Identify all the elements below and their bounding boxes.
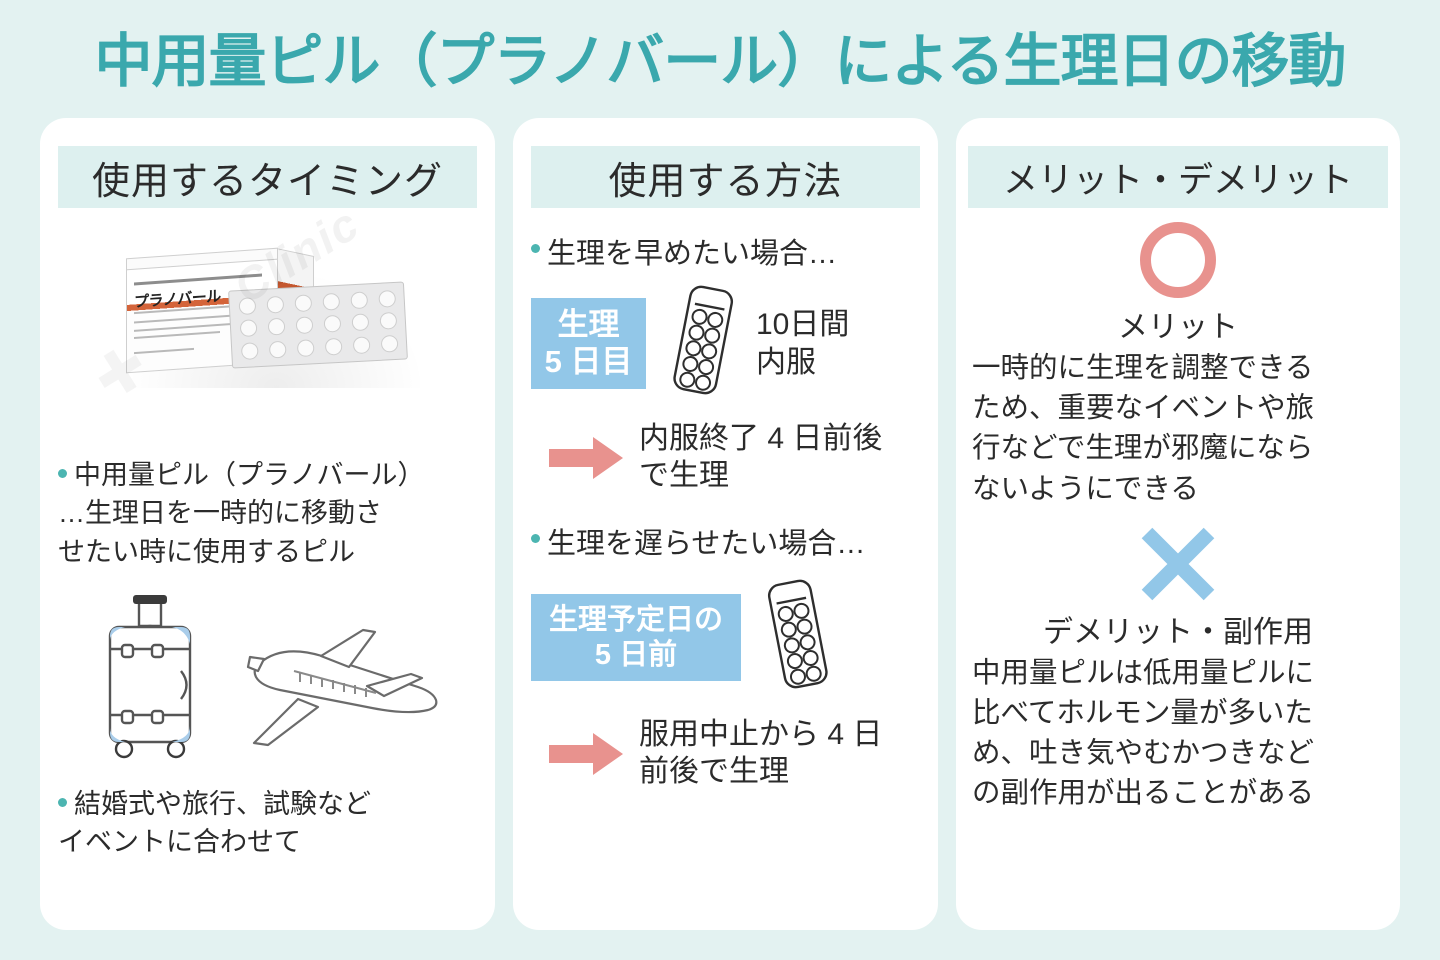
right-arrow-icon [547,435,625,481]
card-timing: 使用するタイミング プラノバール Clinic ✚ [40,118,495,930]
card-pros-cons: メリット・デメリット メリット 一時的に生理を調整できる ため、重要なイベントや… [956,118,1400,930]
timing-bullet-1-line-2: …生理日を一時的に移動さ [58,498,382,528]
duration-line-1: 10日間 [756,306,849,344]
method-delay-result-row: 服用中止から 4 日 前後で生理 [513,717,938,790]
timing-bullet-1-line-3: せたい時に使用するピル [58,537,355,567]
timing-bullet-2-line-2: イベントに合わせて [58,827,301,857]
result-line-1: 服用中止から 4 日 [639,717,882,754]
page-title: 中用量ピル（プラノバール）による生理日の移動 [0,14,1440,98]
merit-line-1: 一時的に生理を調整できる [972,348,1386,388]
travel-illustrations [68,583,468,773]
method-early-bullet-label: 生理を早めたい場合… [547,230,837,272]
card-method-header: 使用する方法 [531,146,920,208]
pill-blister-icon-delay [759,576,837,699]
badge-cycle-day-5: 生理 5 日目 [531,298,646,389]
card-pros-cons-header: メリット・デメリット [968,146,1388,208]
method-delay-row: 生理予定日の 5 日前 [513,576,938,699]
result-line-2: で生理 [639,458,882,495]
cross-batsu-icon [1139,525,1217,603]
card-timing-header: 使用するタイミング [58,146,477,208]
method-delay-bullet-label: 生理を遅らせたい場合… [547,520,865,562]
merit-icon-wrap [956,222,1400,298]
card-method: 使用する方法 生理を早めたい場合… 生理 5 日目 [513,118,938,930]
badge-line-1: 生理 [543,307,634,344]
method-early-result-row: 内服終了 4 日前後 で生理 [513,421,938,494]
method-early-row: 生理 5 日目 [513,282,938,405]
timing-bullet-2: 結婚式や旅行、試験など イベントに合わせて [58,785,479,862]
demerit-line-4: の副作用が出ることがある [972,773,1386,813]
method-delay-bullet: 生理を遅らせたい場合… [531,520,938,562]
method-delay-result-text: 服用中止から 4 日 前後で生理 [639,717,882,790]
badge-5-days-before: 生理予定日の 5 日前 [531,594,741,680]
demerit-line-3: め、吐き気やむかつきなど [972,733,1386,773]
merit-label: メリット [956,302,1400,346]
timing-bullet-1-line-1: 中用量ピル（プラノバール） [74,460,424,490]
timing-bullet-1: 中用量ピル（プラノバール） …生理日を一時的に移動さ せたい時に使用するピル [58,456,479,571]
suitcase-icon [110,595,190,757]
pill-blister-icon-early [664,282,742,405]
infographic-page: 中用量ピル（プラノバール）による生理日の移動 使用するタイミング プラノバール [0,0,1440,960]
bullet-dot-icon [58,469,67,478]
airplane-icon [248,630,436,745]
duration-line-2: 内服 [756,344,849,382]
bullet-dot-icon [531,534,540,543]
timing-bullet-2-line-1: 結婚式や旅行、試験など [74,789,371,819]
bullet-dot-icon [58,798,67,807]
demerit-paragraph: 中用量ピルは低用量ピルに 比べてホルモン量が多いた め、吐き気やむかつきなど の… [972,653,1386,814]
merit-line-4: ないようにできる [972,469,1386,509]
right-arrow-icon [547,731,625,777]
suitcase-and-airplane-svg [68,583,468,773]
method-early-result-text: 内服終了 4 日前後 で生理 [639,421,882,494]
cards-container: 使用するタイミング プラノバール Clinic ✚ [40,118,1400,930]
demerit-icon-wrap [956,525,1400,603]
method-early-bullet: 生理を早めたい場合… [531,230,938,272]
demerit-label: デメリット・副作用 [956,607,1400,651]
badge-line-2: 5 日前 [543,638,729,672]
merit-line-2: ため、重要なイベントや旅 [972,388,1386,428]
merit-paragraph: 一時的に生理を調整できる ため、重要なイベントや旅 行などで生理が邪魔になら な… [972,348,1386,509]
circle-maru-icon [1140,222,1216,298]
demerit-line-2: 比べてホルモン量が多いた [972,693,1386,733]
badge-line-1: 生理予定日の [543,603,729,637]
blister-pack-photo [228,281,408,368]
method-early-duration: 10日間 内服 [756,306,849,381]
merit-line-3: 行などで生理が邪魔になら [972,428,1386,468]
badge-line-2: 5 日目 [543,344,634,381]
demerit-line-1: 中用量ピルは低用量ピルに [972,653,1386,693]
planovar-product-photo: プラノバール Clinic ✚ [78,226,458,442]
result-line-1: 内服終了 4 日前後 [639,421,882,458]
result-line-2: 前後で生理 [639,754,882,791]
bullet-dot-icon [531,244,540,253]
